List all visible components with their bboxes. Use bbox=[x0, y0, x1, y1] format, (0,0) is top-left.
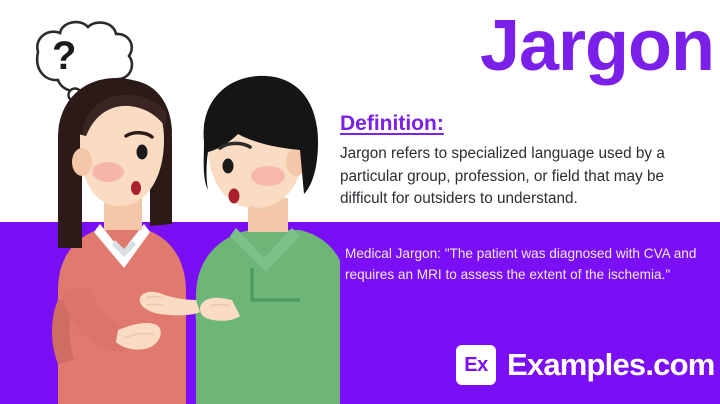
svg-text:?: ? bbox=[52, 34, 76, 78]
examples-logo-mark: Ex bbox=[456, 345, 496, 385]
definition-heading: Definition: bbox=[340, 112, 444, 136]
slide-canvas: ? bbox=[0, 0, 720, 404]
definition-text: Jargon refers to specialized language us… bbox=[340, 143, 708, 211]
conversation-illustration: ? bbox=[0, 0, 340, 404]
example-text: Medical Jargon: "The patient was diagnos… bbox=[345, 243, 707, 285]
examples-logo-text: Examples.com bbox=[507, 347, 715, 383]
page-title: Jargon bbox=[330, 6, 714, 86]
woman-character bbox=[52, 78, 186, 404]
examples-logo[interactable]: Ex Examples.com bbox=[456, 345, 715, 385]
